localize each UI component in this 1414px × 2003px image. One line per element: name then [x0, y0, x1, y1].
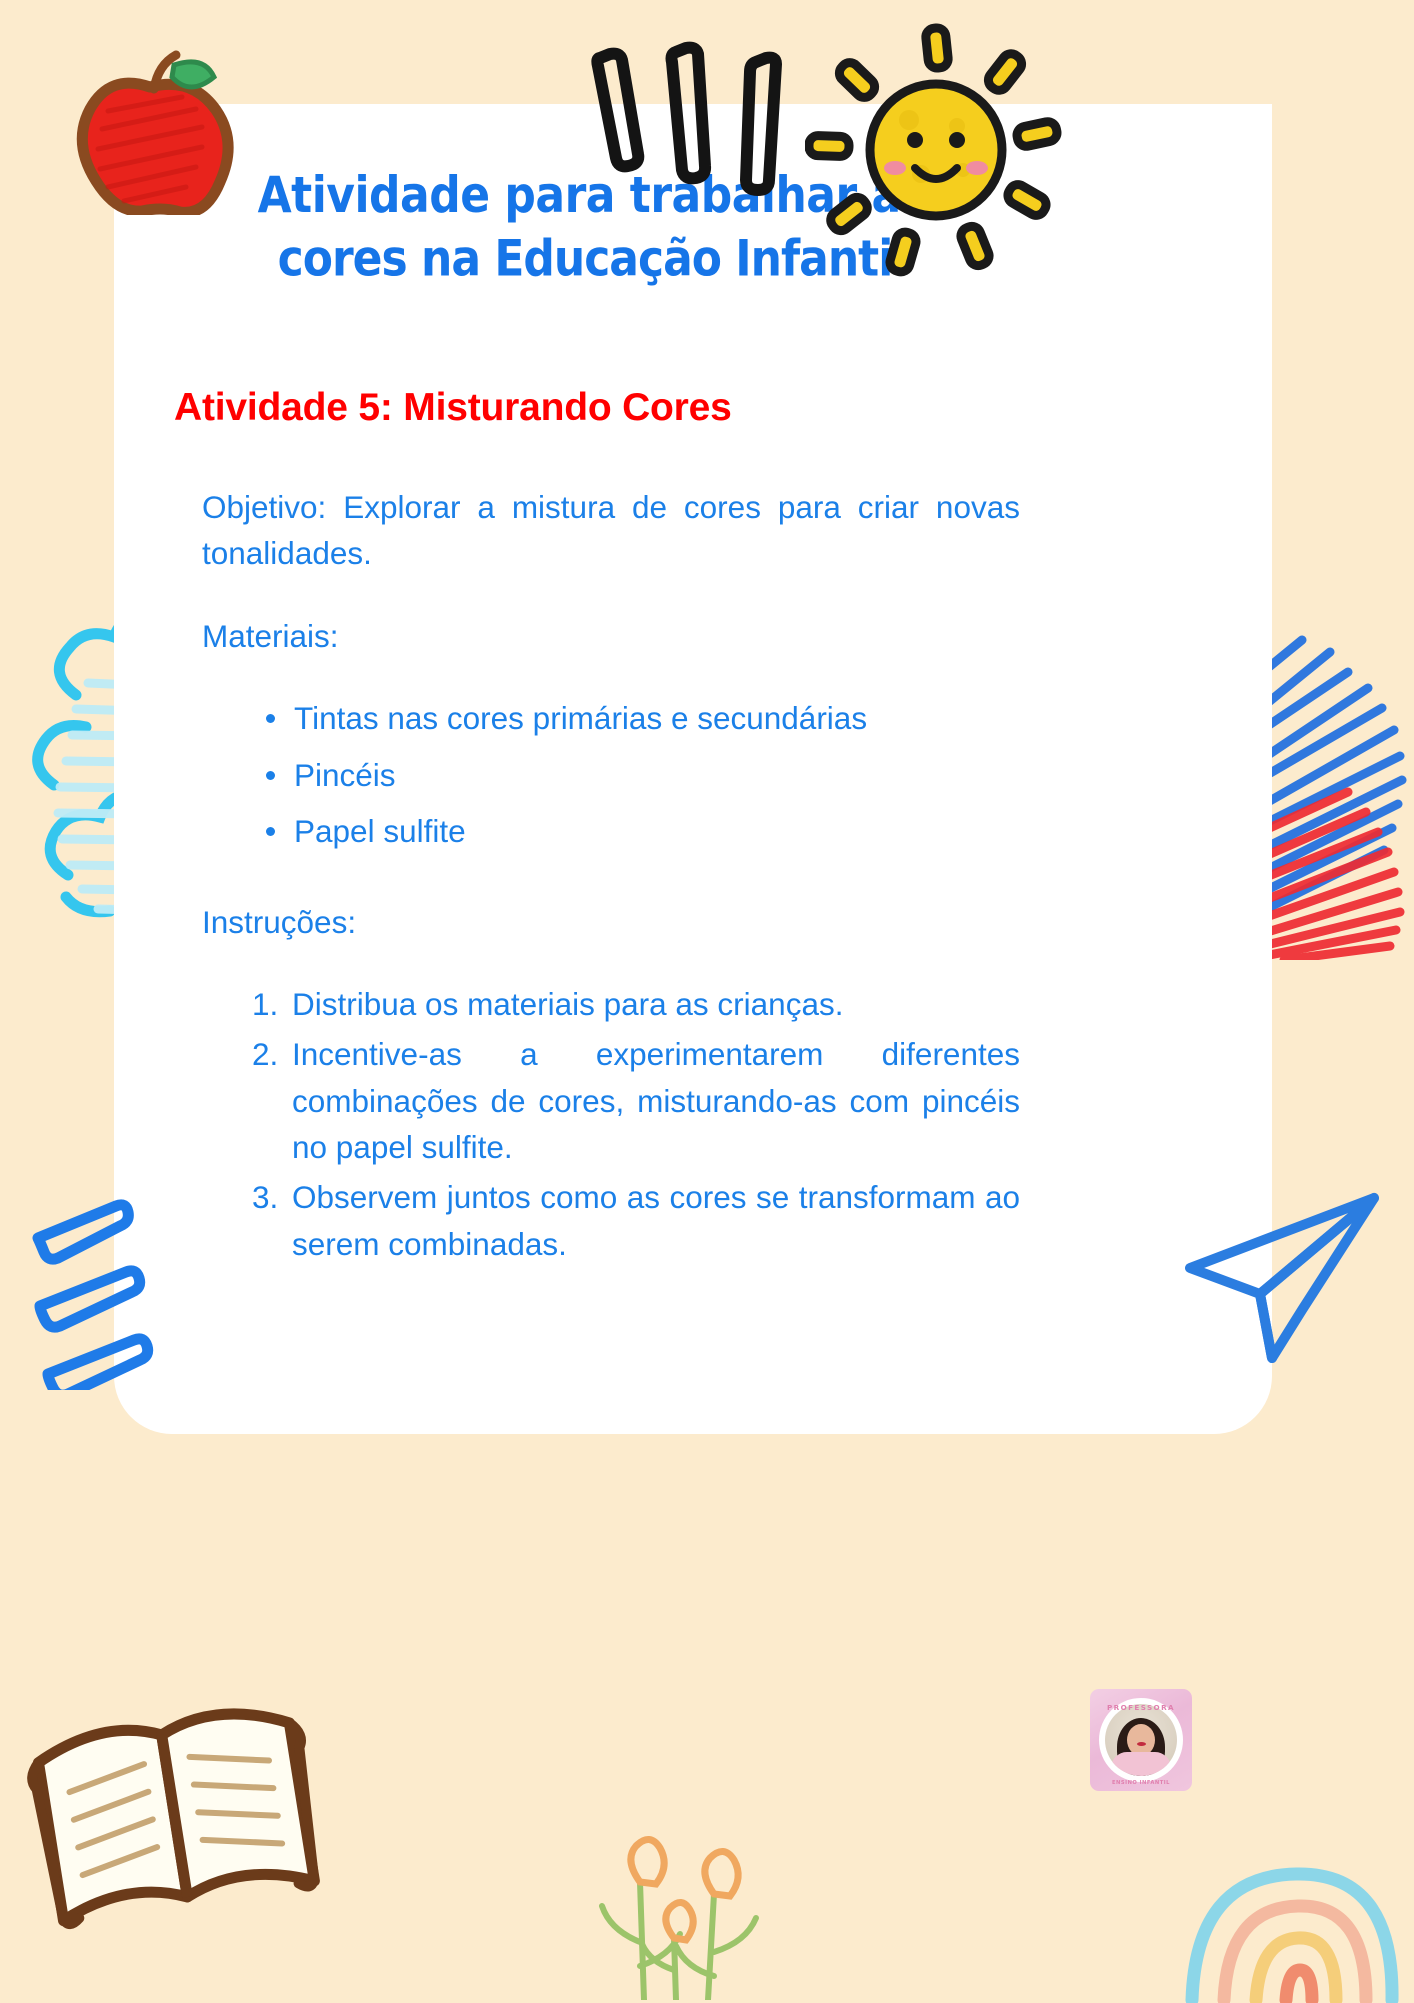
list-item: Pincéis	[294, 752, 1020, 799]
blue-marks-doodle	[22, 1190, 182, 1390]
badge-bottom-text: ENSINO INFANTIL	[1090, 1780, 1192, 1786]
badge-top-text: PROFESSORA	[1090, 1703, 1192, 1712]
list-item: Papel sulfite	[294, 808, 1020, 855]
activity-body: Objetivo: Explorar a mistura de cores pa…	[202, 484, 1020, 1271]
list-item: Incentive-as a experimentarem diferentes…	[252, 1031, 1020, 1170]
black-marks-doodle	[580, 40, 810, 200]
materials-list: Tintas nas cores primárias e secundárias…	[202, 695, 1020, 855]
activity-heading: Atividade 5: Misturando Cores	[174, 386, 732, 430]
rainbow-doodle	[1176, 1828, 1401, 2003]
paper-plane-doodle	[1168, 1190, 1398, 1380]
apple-doodle	[62, 45, 242, 215]
avatar	[1105, 1704, 1177, 1776]
teacher-badge[interactable]: PROFESSORA ENSINO INFANTIL	[1090, 1689, 1192, 1791]
objective-paragraph: Objetivo: Explorar a mistura de cores pa…	[202, 484, 1020, 577]
sun-doodle	[805, 22, 1065, 284]
open-book-doodle	[18, 1650, 328, 1950]
list-item: Distribua os materiais para as crianças.	[252, 981, 1020, 1027]
list-item: Observem juntos como as cores se transfo…	[252, 1174, 1020, 1267]
instructions-list: Distribua os materiais para as crianças.…	[202, 981, 1020, 1267]
avatar-lips	[1137, 1742, 1146, 1746]
instructions-label: Instruções:	[202, 899, 1020, 945]
list-item: Tintas nas cores primárias e secundárias	[294, 695, 1020, 742]
avatar-shirt	[1111, 1752, 1171, 1776]
materials-label: Materiais:	[202, 613, 1020, 659]
flowers-doodle	[570, 1810, 800, 2000]
worksheet-page: PROFESSORA ENSINO INFANTIL Atividade par…	[0, 0, 1414, 2000]
